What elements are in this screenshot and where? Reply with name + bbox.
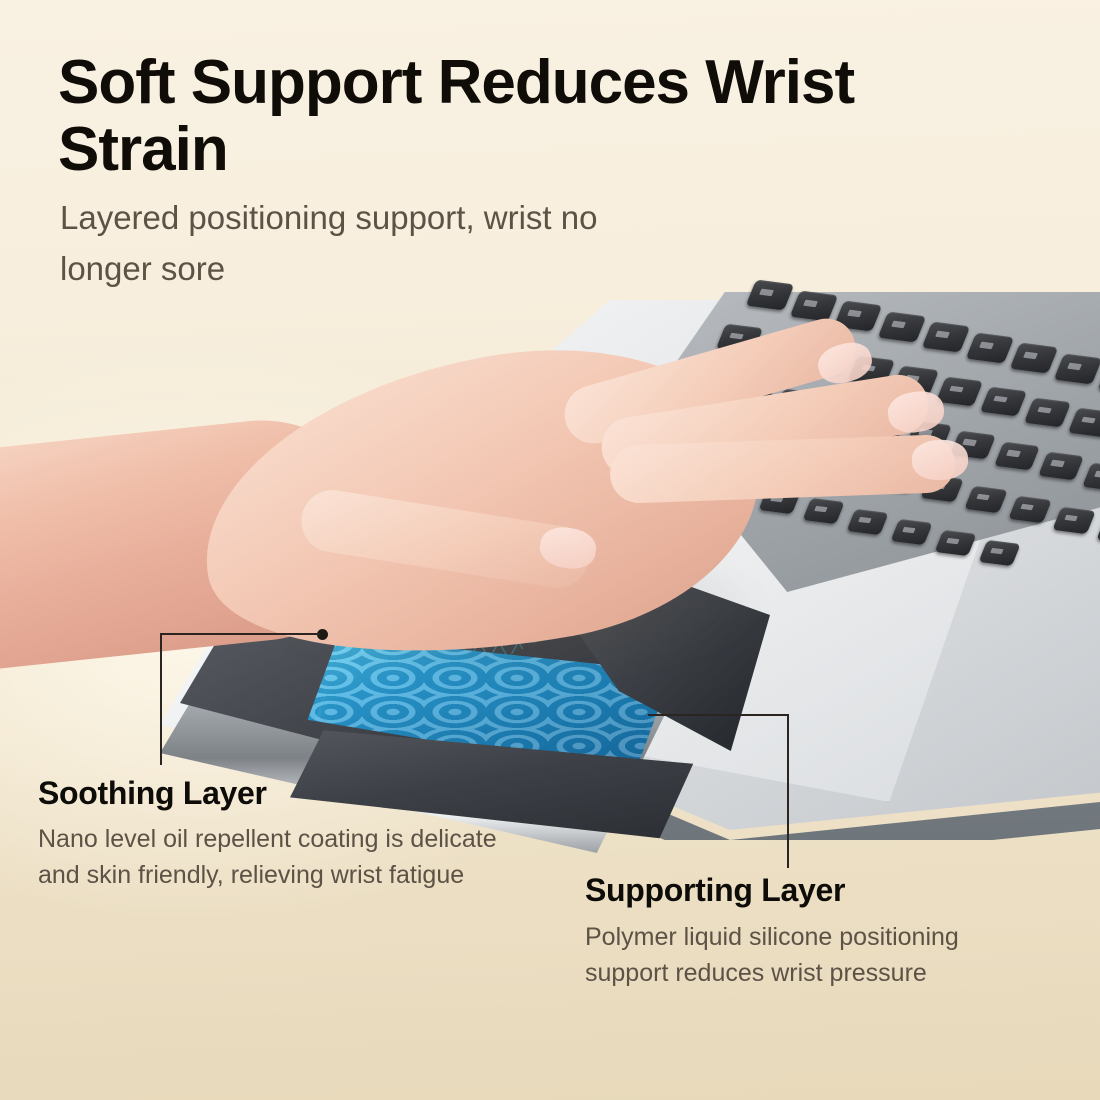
keyboard-key — [978, 540, 1020, 567]
keyboard-key — [980, 387, 1027, 417]
keyboard-key — [1082, 462, 1100, 491]
callout-title-soothing-layer: Soothing Layer — [38, 775, 267, 812]
keyboard-key — [1052, 506, 1096, 534]
keyboard-key — [1096, 517, 1100, 545]
finger-ring — [609, 434, 956, 504]
keyboard-key — [1010, 343, 1059, 374]
keyboard-key — [1008, 496, 1052, 524]
keyboard-key — [922, 322, 971, 353]
fingernail-ring — [911, 439, 968, 481]
keyboard-key — [934, 529, 976, 556]
keyboard-key — [936, 376, 983, 406]
page-title: Soft Support Reduces Wrist Strain — [58, 50, 878, 184]
page-subtitle: Layered positioning support, wrist no lo… — [60, 192, 680, 294]
callout-body-supporting-layer: Polymer liquid silicone positioning supp… — [585, 920, 1035, 991]
keyboard-key — [1054, 353, 1100, 384]
callout-title-supporting-layer: Supporting Layer — [585, 872, 845, 909]
keyboard-key — [878, 311, 927, 342]
keyboard-key — [746, 280, 795, 311]
keyboard-key — [802, 498, 844, 525]
callout-body-soothing-layer: Nano level oil repellent coating is deli… — [38, 822, 498, 893]
supporting-layer-leader-horizontal — [648, 714, 789, 716]
keyboard-key — [890, 519, 932, 546]
soothing-layer-leader-horizontal — [160, 633, 320, 635]
keyboard-key — [966, 332, 1015, 363]
keyboard-key — [846, 508, 888, 535]
keyboard-key — [1038, 452, 1084, 481]
keyboard-key — [994, 441, 1040, 470]
soothing-layer-leader-vertical — [160, 633, 162, 765]
keyboard-key — [790, 290, 839, 321]
keyboard-key — [1024, 397, 1071, 427]
keyboard-key — [1068, 408, 1100, 438]
keyboard-key — [964, 485, 1008, 513]
supporting-layer-leader-vertical — [787, 714, 789, 868]
marketing-image: Soft Support Reduces Wrist Strain Layere… — [0, 0, 1100, 1100]
